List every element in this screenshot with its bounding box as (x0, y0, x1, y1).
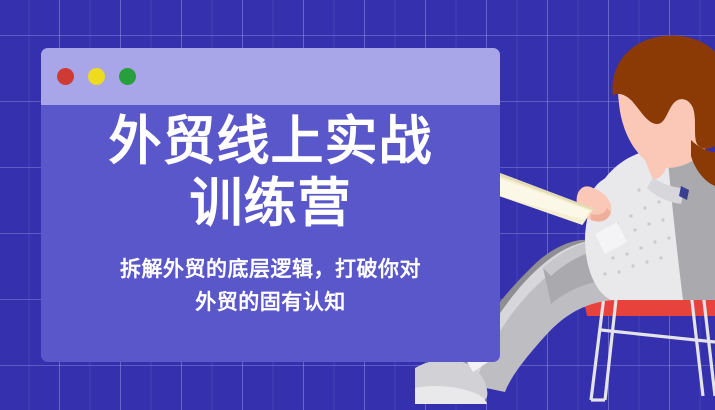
minimize-dot-icon[interactable] (88, 68, 105, 85)
course-subtitle-line-1: 拆解外贸的底层逻辑，打破你对 (120, 253, 421, 286)
browser-card-content: 外贸线上实战 训练营 拆解外贸的底层逻辑，打破你对 外贸的固有认知 (41, 105, 500, 362)
course-subtitle: 拆解外贸的底层逻辑，打破你对 外贸的固有认知 (120, 253, 421, 319)
browser-card-titlebar (41, 48, 500, 105)
course-subtitle-line-2: 外贸的固有认知 (120, 286, 421, 319)
poster-canvas: 外贸线上实战 训练营 拆解外贸的底层逻辑，打破你对 外贸的固有认知 (0, 0, 715, 410)
maximize-dot-icon[interactable] (119, 68, 136, 85)
course-title-line-1: 外贸线上实战 (109, 111, 433, 173)
course-title-line-2: 训练营 (190, 173, 352, 235)
close-dot-icon[interactable] (57, 68, 74, 85)
browser-card: 外贸线上实战 训练营 拆解外贸的底层逻辑，打破你对 外贸的固有认知 (41, 48, 500, 362)
